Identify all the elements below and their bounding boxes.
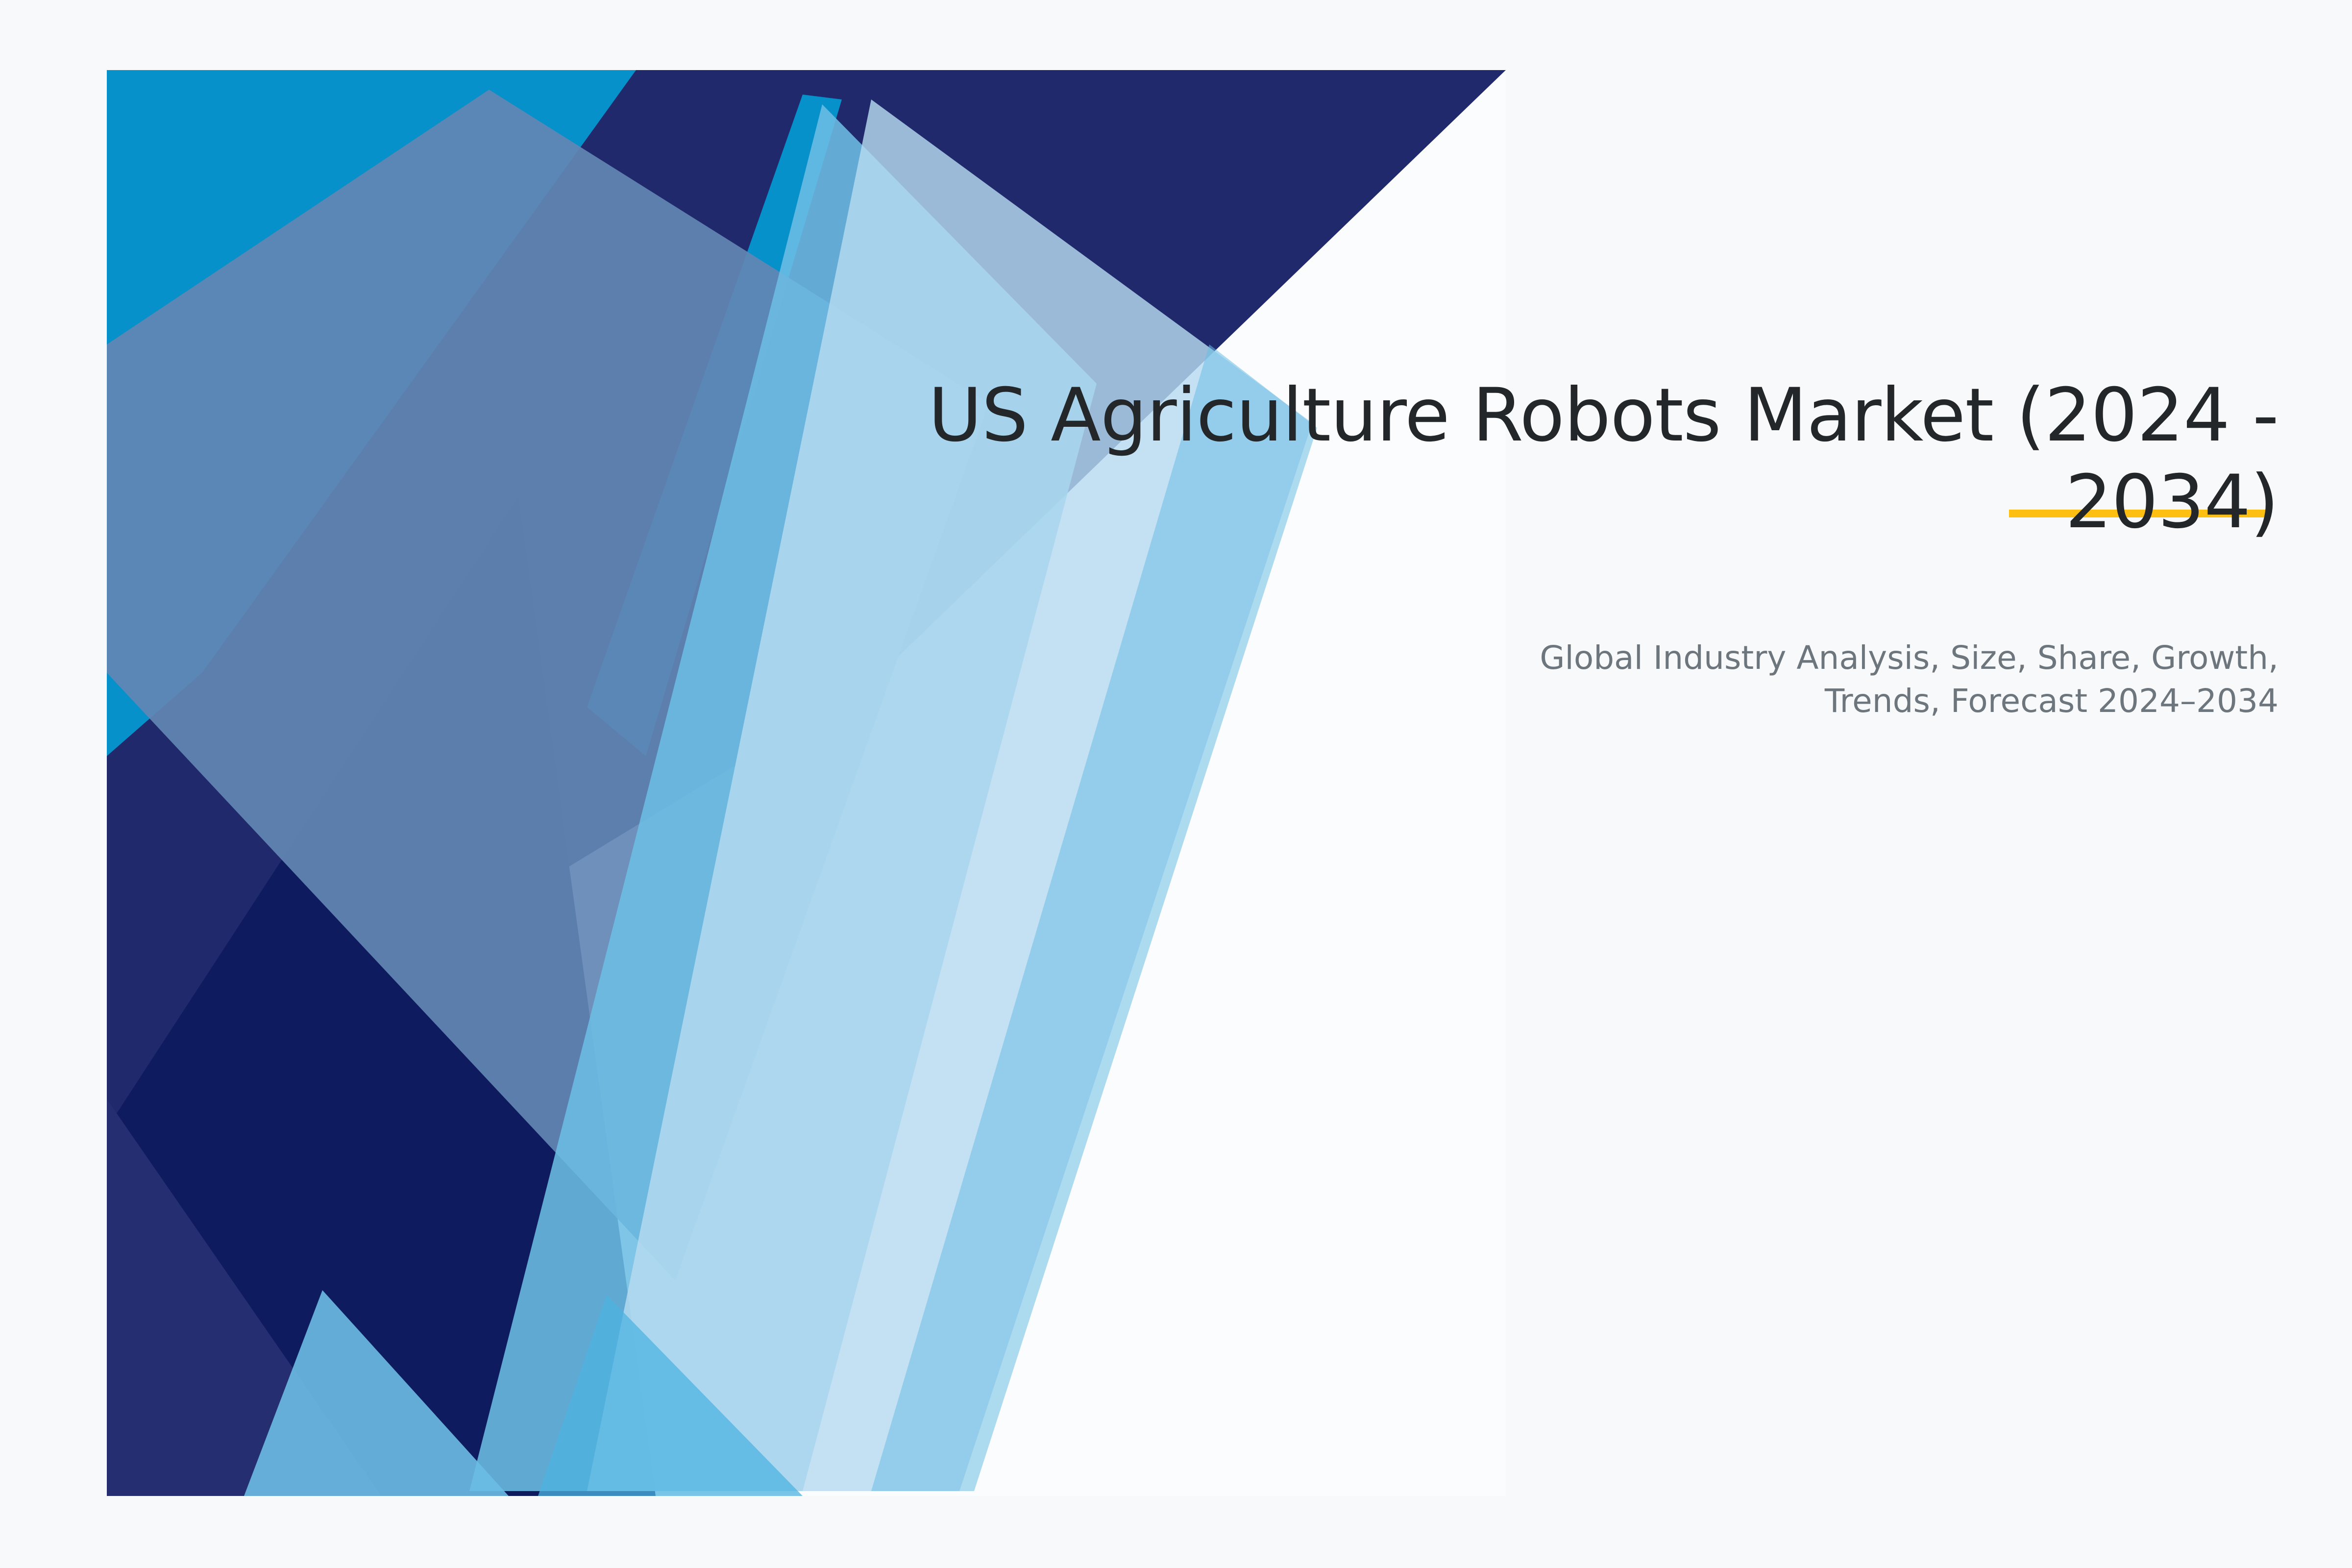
artwork-svg bbox=[107, 70, 1506, 1496]
page-subtitle: Global Industry Analysis, Size, Share, G… bbox=[857, 637, 2278, 723]
title-slide: US Agriculture Robots Market (2024 - 203… bbox=[0, 0, 2352, 1568]
title-wrapper: US Agriculture Robots Market (2024 - 203… bbox=[857, 372, 2278, 546]
abstract-geometric-artwork bbox=[107, 70, 1506, 1496]
title-text-block: US Agriculture Robots Market (2024 - 203… bbox=[857, 372, 2278, 723]
page-title: US Agriculture Robots Market (2024 - 203… bbox=[857, 372, 2278, 546]
